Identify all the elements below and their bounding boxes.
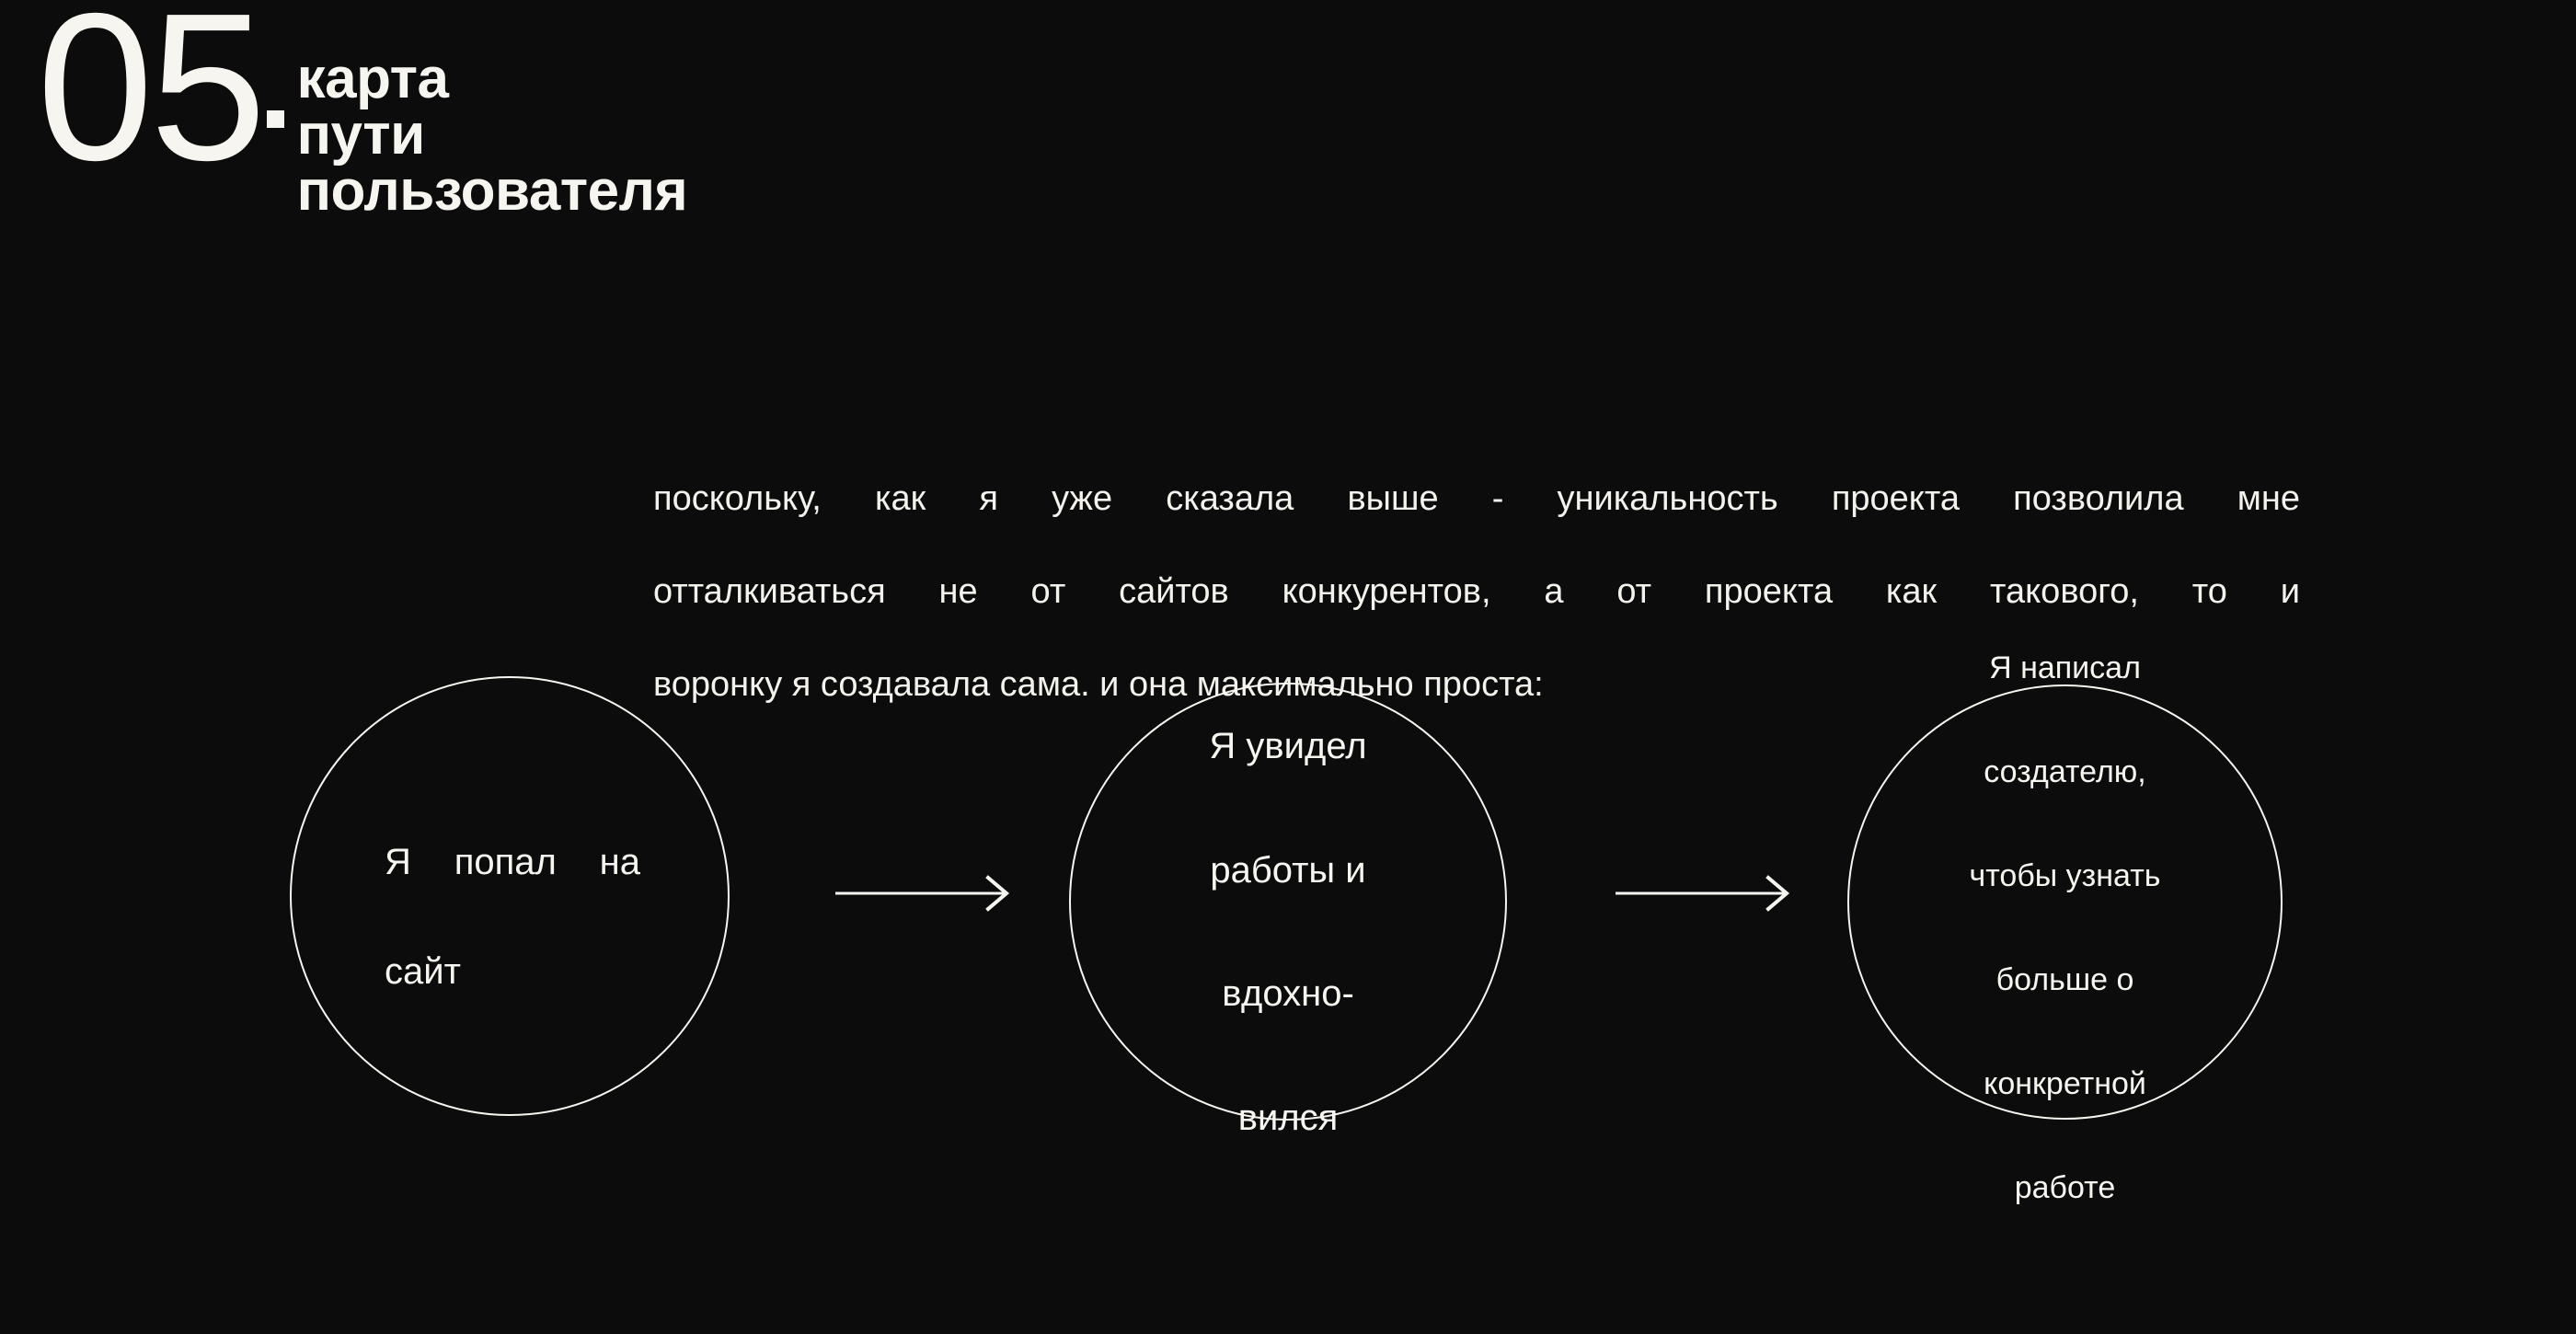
funnel-node-3-line-2: создателю, <box>1984 754 2146 789</box>
funnel-node-label: Я написал создателю, чтобы узнать больше… <box>1914 591 2217 1213</box>
funnel-node-label: Я попал на сайт <box>385 781 640 1053</box>
intro-line-1: поскольку, как я уже сказала выше - уник… <box>653 476 2300 523</box>
section-dot-icon <box>267 110 284 128</box>
slide-header: 05 карта пути пользователя <box>37 0 687 219</box>
funnel-node-entered-site[interactable]: Я попал на сайт <box>290 676 730 1116</box>
funnel-node-2-line-3: вдохно- <box>1222 973 1354 1014</box>
funnel-node-2-line-2: работы и <box>1210 850 1365 891</box>
funnel-node-label: Я увидел работы и вдохно- вился <box>1136 654 1440 1149</box>
funnel-node-1-line-1: Я попал на <box>385 835 640 890</box>
page-title: карта пути пользователя <box>297 52 688 219</box>
arrow-right-icon <box>835 872 1012 914</box>
funnel-node-wrote-creator[interactable]: Я написал создателю, чтобы узнать больше… <box>1847 684 2283 1120</box>
funnel-node-saw-works[interactable]: Я увидел работы и вдохно- вился <box>1069 683 1507 1121</box>
funnel-node-2-line-1: Я увидел <box>1209 726 1366 766</box>
funnel-node-3-line-5: конкретной <box>1984 1066 2146 1101</box>
arrow-right-icon <box>1616 872 1792 914</box>
funnel-node-3-line-1: Я написал <box>1989 650 2141 685</box>
slide-root: 05 карта пути пользователя поскольку, ка… <box>0 0 2576 1334</box>
funnel-node-1-line-2: сайт <box>385 945 640 999</box>
funnel-node-2-line-4: вился <box>1238 1098 1339 1138</box>
funnel-node-3-line-3: чтобы узнать <box>1970 858 2161 893</box>
funnel-node-3-line-6: работе <box>2015 1170 2116 1205</box>
funnel-node-3-line-4: больше о <box>1996 962 2134 997</box>
user-journey-funnel: Я попал на сайт Я увидел работы и вдохно… <box>0 672 2576 1132</box>
section-number: 05 <box>37 0 265 189</box>
